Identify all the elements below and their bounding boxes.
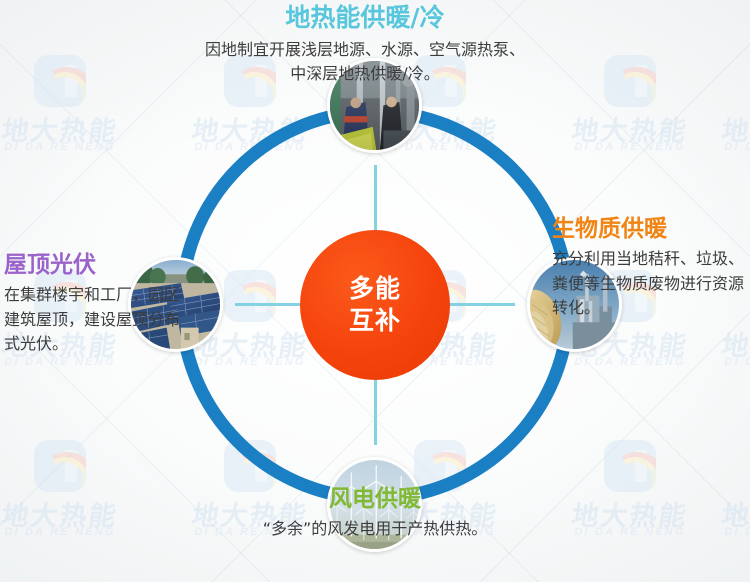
watermark-cn-text: 地大热能 bbox=[697, 109, 750, 148]
watermark-en-text: DI DA RE NENG bbox=[0, 356, 140, 368]
watermark-en-text: DI DA RE NENG bbox=[700, 141, 750, 153]
watermark-en-text: DI DA RE NENG bbox=[700, 356, 750, 368]
pv-text-block: 屋顶光伏 在集群楼宇和工厂，园区建筑屋顶，建设屋顶分布式光伏。 bbox=[4, 252, 184, 356]
watermark-en-text: DI DA RE NENG bbox=[0, 526, 140, 538]
biomass-title: 生物质供暖 bbox=[552, 216, 750, 242]
watermark-logo: 地大热能DI DA RE NENG bbox=[700, 55, 750, 167]
wind-description: “多余”的风发电用于产热供热。 bbox=[225, 517, 525, 541]
watermark-logo: 地大热能DI DA RE NENG bbox=[700, 440, 750, 552]
watermark-logo-icon bbox=[34, 55, 86, 107]
watermark-cn-text: 地大热能 bbox=[0, 494, 143, 533]
watermark-logo: 地大热能DI DA RE NENG bbox=[0, 55, 140, 167]
geothermal-title: 地热能供暖/冷 bbox=[200, 4, 530, 33]
watermark-en-text: DI DA RE NENG bbox=[550, 526, 710, 538]
watermark-en-text: DI DA RE NENG bbox=[0, 141, 140, 153]
infographic-canvas: 地大热能DI DA RE NENG地大热能DI DA RE NENG地大热能DI… bbox=[0, 0, 750, 582]
pv-description: 在集群楼宇和工厂，园区建筑屋顶，建设屋顶分布式光伏。 bbox=[4, 283, 184, 356]
watermark-en-text: DI DA RE NENG bbox=[700, 526, 750, 538]
wind-text-block: 风电供暖 “多余”的风发电用于产热供热。 bbox=[225, 486, 525, 542]
pv-title: 屋顶光伏 bbox=[4, 252, 184, 278]
center-hub-multi-energy: 多能 互补 bbox=[300, 230, 450, 380]
center-label-line2: 互补 bbox=[349, 305, 401, 337]
wind-title: 风电供暖 bbox=[225, 486, 525, 512]
watermark-cn-text: 地大热能 bbox=[697, 324, 750, 363]
watermark-logo: 地大热能DI DA RE NENG bbox=[0, 440, 140, 552]
multi-energy-ring-diagram: 多能 互补 bbox=[175, 105, 575, 505]
watermark-cn-text: 地大热能 bbox=[0, 109, 143, 148]
watermark-cn-text: 地大热能 bbox=[697, 494, 750, 533]
geothermal-text-block: 地热能供暖/冷 因地制宜开展浅层地源、水源、空气源热泵、中深层地热供暖/冷。 bbox=[200, 4, 530, 86]
watermark-logo-icon bbox=[604, 440, 656, 492]
biomass-text-block: 生物质供暖 充分利用当地秸秆、垃圾、粪便等生物质废物进行资源转化。 bbox=[552, 216, 750, 320]
center-label-line1: 多能 bbox=[349, 273, 401, 305]
biomass-description: 充分利用当地秸秆、垃圾、粪便等生物质废物进行资源转化。 bbox=[552, 247, 750, 320]
watermark-logo-icon bbox=[604, 55, 656, 107]
watermark-logo-icon bbox=[34, 440, 86, 492]
geothermal-description: 因地制宜开展浅层地源、水源、空气源热泵、中深层地热供暖/冷。 bbox=[200, 38, 530, 87]
